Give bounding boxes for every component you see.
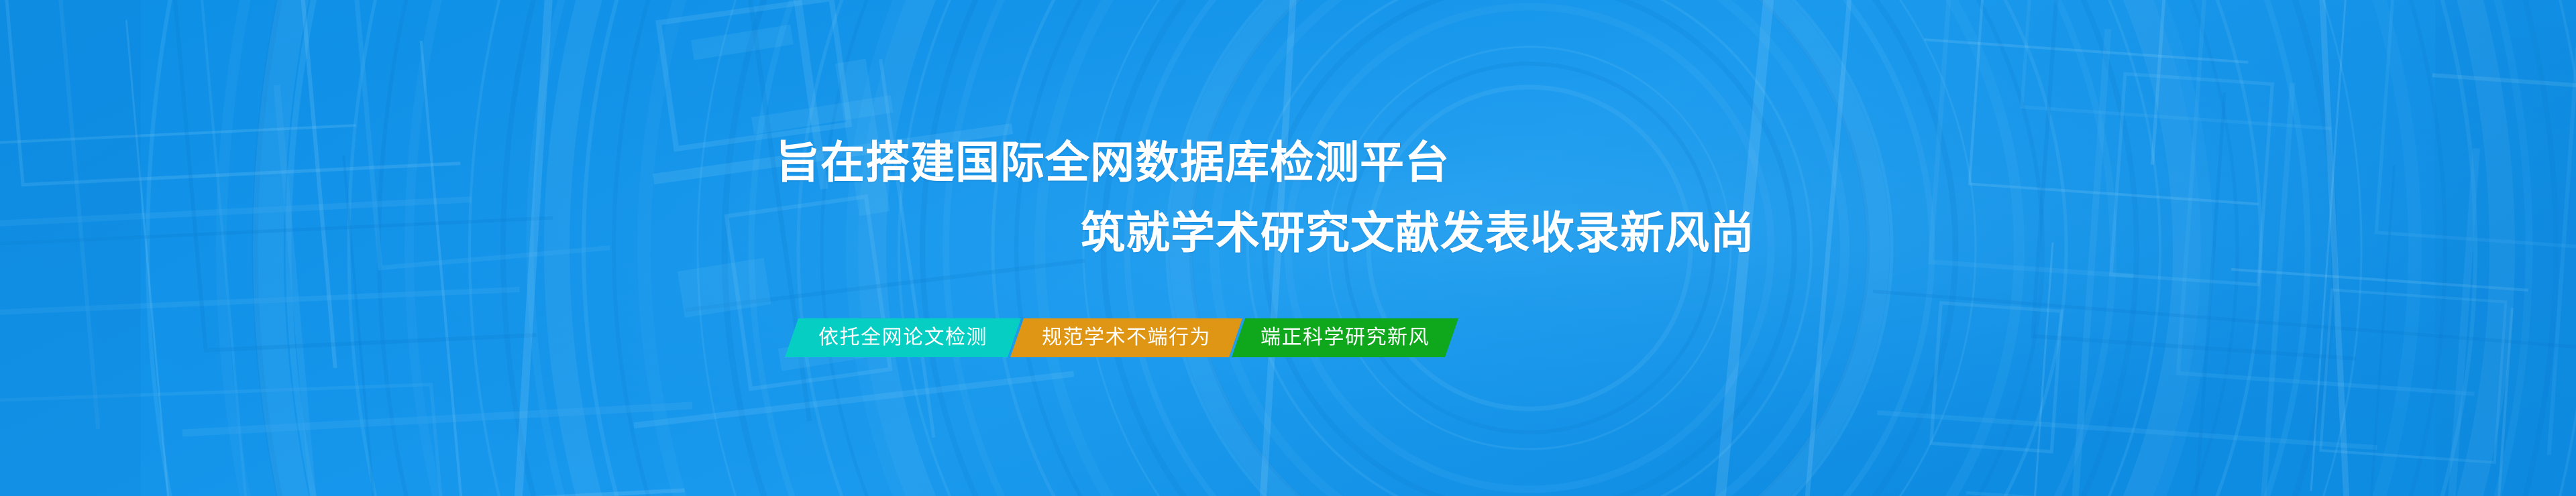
feature-badge-row: 依托全网论文检测 规范学术不端行为 端正科学研究新风	[792, 318, 1452, 357]
feature-badge-detection-label: 依托全网论文检测	[818, 328, 987, 348]
feature-badge-detection[interactable]: 依托全网论文检测	[785, 318, 1021, 357]
headline-primary: 旨在搭建国际全网数据库检测平台	[775, 139, 1450, 186]
promo-banner: 旨在搭建国际全网数据库检测平台 筑就学术研究文献发表收录新风尚 依托全网论文检测…	[0, 0, 2576, 496]
feature-badge-integrity[interactable]: 端正科学研究新风	[1232, 318, 1458, 357]
feature-badge-misconduct[interactable]: 规范学术不端行为	[1010, 318, 1242, 357]
headline-secondary: 筑就学术研究文献发表收录新风尚	[1081, 209, 1755, 256]
banner-content: 旨在搭建国际全网数据库检测平台 筑就学术研究文献发表收录新风尚 依托全网论文检测…	[0, 0, 2576, 496]
feature-badge-misconduct-label: 规范学术不端行为	[1042, 328, 1211, 348]
feature-badge-integrity-label: 端正科学研究新风	[1260, 328, 1430, 348]
